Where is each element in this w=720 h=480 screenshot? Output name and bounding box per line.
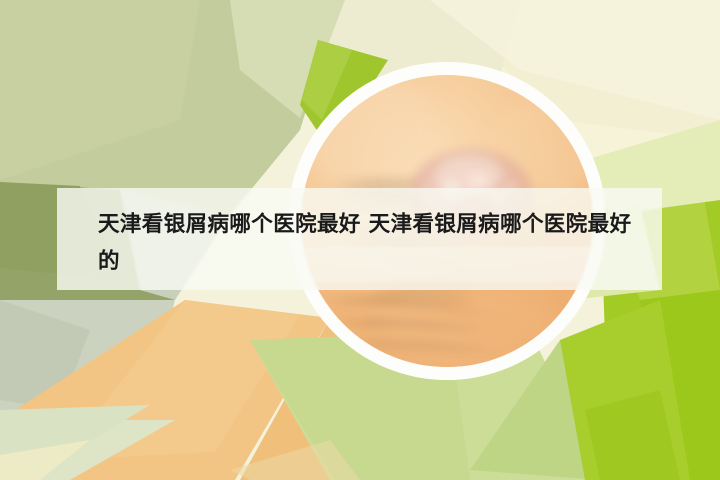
thumbnail-canvas: 天津看银屑病哪个医院最好 天津看银屑病哪个医院最好的	[0, 0, 720, 480]
caption-title: 天津看银屑病哪个医院最好 天津看银屑病哪个医院最好的	[98, 206, 648, 280]
